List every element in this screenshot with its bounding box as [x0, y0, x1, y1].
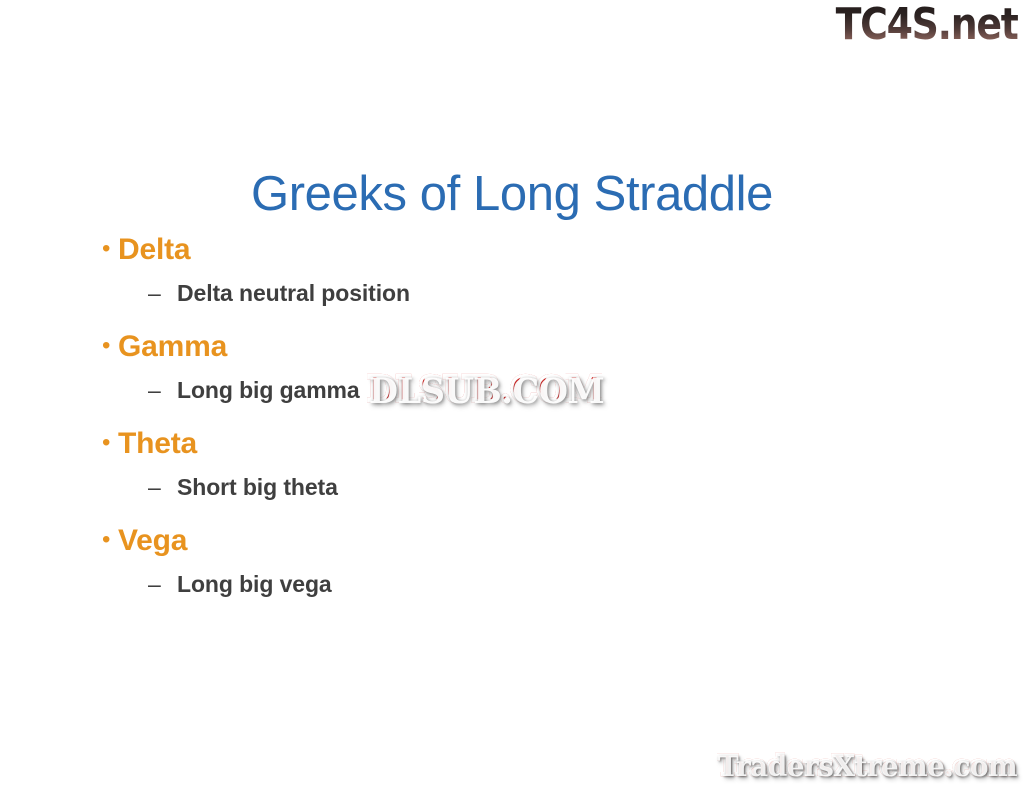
dash-bullet-icon: –: [148, 471, 177, 503]
bullet-label-vega: Vega: [118, 523, 187, 559]
sub-label-delta: Delta neutral position: [177, 277, 410, 309]
bullet-dot-icon: •: [96, 523, 118, 557]
dlsub-watermark: DLSUB.COM: [367, 369, 602, 411]
bullet-dot-icon: •: [96, 426, 118, 460]
tc4s-logo: TC4S.net: [836, 2, 1018, 48]
sub-label-vega: Long big vega: [177, 568, 332, 600]
bullet-item-gamma: • Gamma: [96, 329, 856, 374]
bullet-group-vega: • Vega – Long big vega: [96, 523, 856, 620]
bullet-dot-icon: •: [96, 232, 118, 266]
sub-item-theta: – Short big theta: [96, 471, 856, 523]
bullet-label-delta: Delta: [118, 232, 190, 268]
sub-label-gamma: Long big gamma: [177, 374, 360, 406]
bullet-item-delta: • Delta: [96, 232, 856, 277]
dash-bullet-icon: –: [148, 374, 177, 406]
tradersxtreme-logo: TradersXtreme.com: [717, 749, 1016, 783]
dlsub-watermark-text: DLSUB.COM: [367, 369, 602, 410]
tradersxtreme-logo-text: TradersXtreme.com: [717, 749, 1016, 782]
sub-label-theta: Short big theta: [177, 471, 338, 503]
bullet-label-theta: Theta: [118, 426, 197, 462]
slide-title: Greeks of Long Straddle: [0, 165, 1024, 223]
bullet-list: • Delta – Delta neutral position • Gamma…: [96, 232, 856, 620]
bullet-group-theta: • Theta – Short big theta: [96, 426, 856, 523]
bullet-group-delta: • Delta – Delta neutral position: [96, 232, 856, 329]
sub-item-delta: – Delta neutral position: [96, 277, 856, 329]
presentation-slide: TC4S.net Greeks of Long Straddle • Delta…: [0, 0, 1024, 791]
sub-item-vega: – Long big vega: [96, 568, 856, 620]
dash-bullet-icon: –: [148, 277, 177, 309]
bullet-item-theta: • Theta: [96, 426, 856, 471]
dash-bullet-icon: –: [148, 568, 177, 600]
bullet-item-vega: • Vega: [96, 523, 856, 568]
bullet-dot-icon: •: [96, 329, 118, 363]
bullet-label-gamma: Gamma: [118, 329, 227, 365]
